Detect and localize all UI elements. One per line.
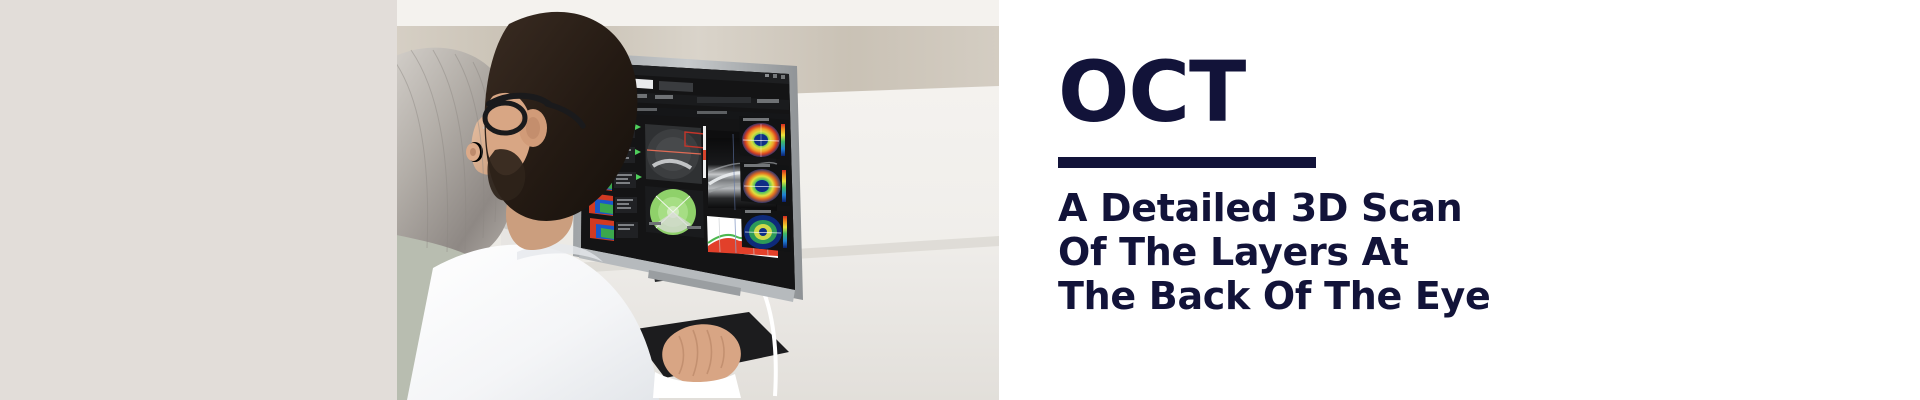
left-color-band: [0, 0, 397, 400]
headline-block: A Detailed 3D Scan Of The Layers At The …: [1058, 186, 1758, 318]
headline-column: OCT A Detailed 3D Scan Of The Layers At …: [1058, 0, 1818, 400]
toolbar-button-compare: [655, 95, 673, 99]
fundus-preview-panel: [645, 124, 706, 184]
clinic-photo: [397, 0, 999, 400]
headline-line-3: The Back Of The Eye: [1058, 274, 1758, 318]
minimize-icon: [765, 74, 769, 77]
wall-top-strip: [397, 0, 999, 26]
right-thickness-maps: [739, 116, 791, 252]
headline-line-1: A Detailed 3D Scan: [1058, 186, 1758, 230]
toolbar-button-export: [757, 99, 779, 103]
subtoolbar-label-patient: [697, 111, 727, 114]
etdrs-grid-panel: [645, 186, 704, 238]
toolbar-search-field: [697, 97, 751, 103]
oct-acronym: OCT: [1058, 50, 1245, 134]
clinic-photo-illustration: [397, 0, 999, 400]
oct-underline-rule: [1058, 157, 1316, 168]
headline-line-2: Of The Layers At: [1058, 230, 1758, 274]
maximize-icon: [773, 74, 777, 78]
oct-banner: OCT A Detailed 3D Scan Of The Layers At …: [0, 0, 1920, 400]
close-icon: [781, 75, 785, 79]
